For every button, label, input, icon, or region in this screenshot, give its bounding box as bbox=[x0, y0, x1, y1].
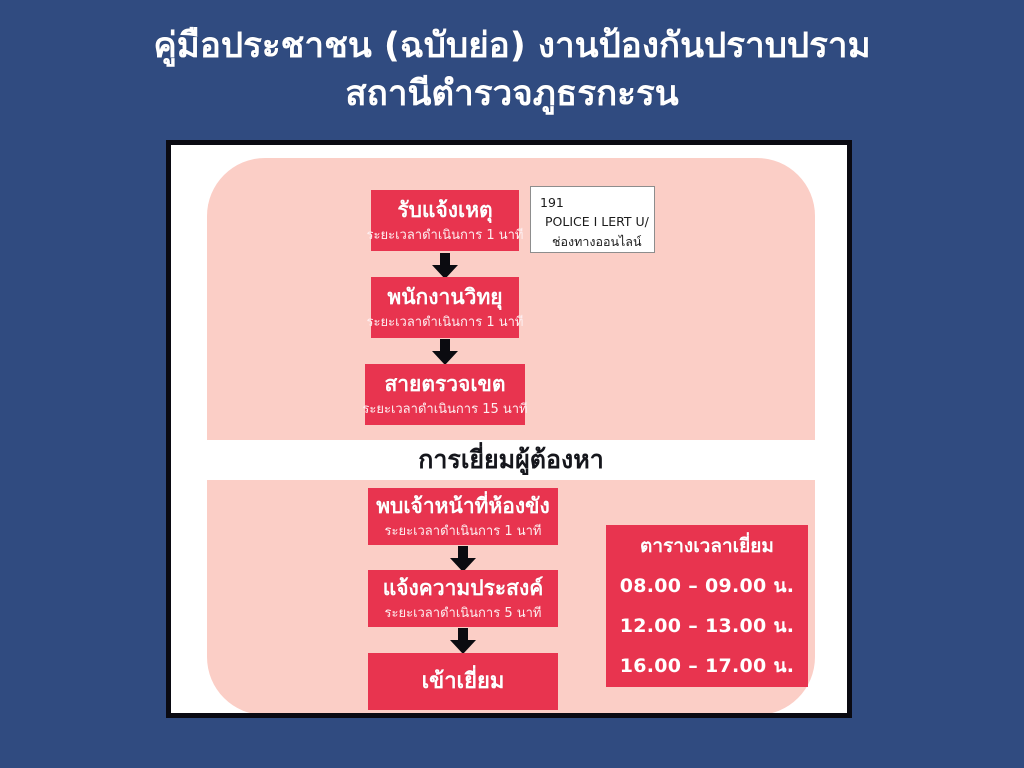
visiting-schedule-row-2: 12.00 – 13.00 น. bbox=[620, 611, 795, 641]
flow-step-receive-report: รับแจ้งเหตุ ระยะเวลาดำเนินการ 1 นาที bbox=[371, 190, 519, 251]
arrow-head bbox=[450, 640, 476, 654]
visiting-schedule-title: ตารางเวลาเยี่ยม bbox=[640, 531, 774, 561]
flow-step-enter-visit: เข้าเยี่ยม bbox=[368, 653, 558, 710]
flow-step-duration: ระยะเวลาดำเนินการ 15 นาที bbox=[362, 402, 527, 418]
section-heading-visitation: การเยี่ยมผู้ต้องหา bbox=[207, 441, 815, 479]
visitation-flow-panel: พบเจ้าหน้าที่ห้องขัง ระยะเวลาดำเนินการ 1… bbox=[207, 480, 815, 715]
emergency-contact-note: 191 POLICE I LERT U/ ช่องทางออนไลน์ bbox=[530, 186, 655, 253]
visiting-schedule-box: ตารางเวลาเยี่ยม 08.00 – 09.00 น. 12.00 –… bbox=[606, 525, 808, 687]
flow-step-title: พบเจ้าหน้าที่ห้องขัง bbox=[376, 494, 550, 518]
flow-step-meet-cell-officer: พบเจ้าหน้าที่ห้องขัง ระยะเวลาดำเนินการ 1… bbox=[368, 488, 558, 545]
visiting-schedule-row-3: 16.00 – 17.00 น. bbox=[620, 651, 795, 681]
flow-step-duration: ระยะเวลาดำเนินการ 1 นาที bbox=[367, 315, 524, 331]
flow-step-radio-operator: พนักงานวิทยุ ระยะเวลาดำเนินการ 1 นาที bbox=[371, 277, 519, 338]
flow-step-title: แจ้งความประสงค์ bbox=[383, 576, 544, 600]
emergency-flow-panel: รับแจ้งเหตุ ระยะเวลาดำเนินการ 1 นาที พนั… bbox=[207, 158, 815, 440]
page-title-line-2: สถานีตำรวจภูธรกะรน bbox=[0, 70, 1024, 118]
arrow-down-icon bbox=[450, 546, 476, 572]
diagram-card: รับแจ้งเหตุ ระยะเวลาดำเนินการ 1 นาที พนั… bbox=[166, 140, 852, 718]
emergency-online-channel: ช่องทางออนไลน์ bbox=[540, 232, 647, 251]
page-title-line-1: คู่มือประชาชน (ฉบับย่อ) งานป้องกันปราบปร… bbox=[0, 22, 1024, 70]
page-title: คู่มือประชาชน (ฉบับย่อ) งานป้องกันปราบปร… bbox=[0, 22, 1024, 119]
flow-step-title: พนักงานวิทยุ bbox=[387, 285, 502, 309]
arrow-head bbox=[432, 351, 458, 365]
slide-canvas: คู่มือประชาชน (ฉบับย่อ) งานป้องกันปราบปร… bbox=[0, 0, 1024, 768]
emergency-number: 191 bbox=[540, 193, 647, 212]
emergency-app-name: POLICE I LERT U/ bbox=[540, 212, 647, 231]
flow-step-state-request: แจ้งความประสงค์ ระยะเวลาดำเนินการ 5 นาที bbox=[368, 570, 558, 627]
arrow-down-icon bbox=[450, 628, 476, 654]
flow-step-title: รับแจ้งเหตุ bbox=[397, 198, 492, 222]
flow-step-duration: ระยะเวลาดำเนินการ 1 นาที bbox=[367, 228, 524, 244]
flow-step-title: เข้าเยี่ยม bbox=[422, 669, 505, 694]
arrow-down-icon bbox=[432, 339, 458, 365]
flow-step-district-patrol: สายตรวจเขต ระยะเวลาดำเนินการ 15 นาที bbox=[365, 364, 525, 425]
flow-step-title: สายตรวจเขต bbox=[384, 372, 505, 396]
flow-step-duration: ระยะเวลาดำเนินการ 5 นาที bbox=[385, 606, 542, 622]
arrow-down-icon bbox=[432, 253, 458, 279]
flow-step-duration: ระยะเวลาดำเนินการ 1 นาที bbox=[385, 524, 542, 540]
visiting-schedule-row-1: 08.00 – 09.00 น. bbox=[620, 571, 795, 601]
